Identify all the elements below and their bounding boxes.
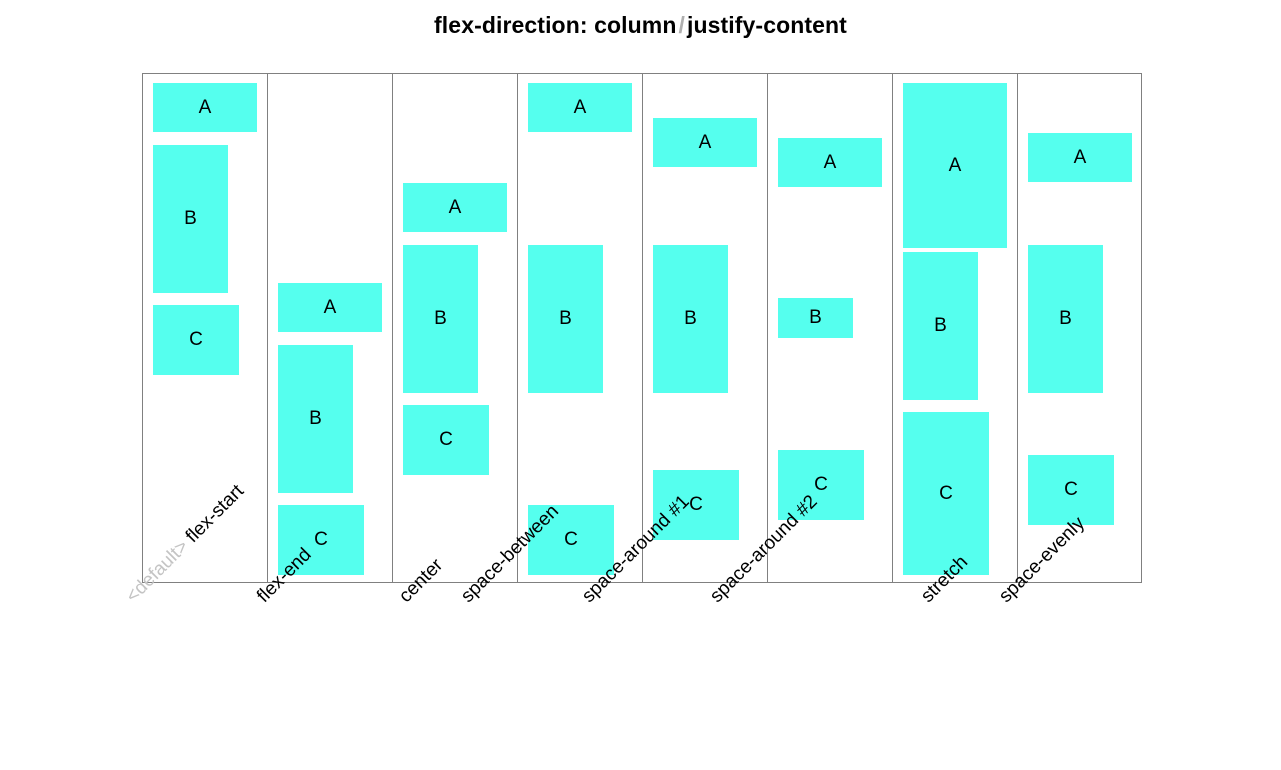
page-title-separator: / <box>677 12 688 38</box>
flex-item-b: B <box>153 145 228 293</box>
flex-item-c: C <box>903 412 989 575</box>
flex-item-a: A <box>278 283 382 332</box>
demo-column-space-evenly: ABC <box>1018 74 1143 582</box>
flex-item-c: C <box>153 305 239 375</box>
flex-item-a: A <box>153 83 257 132</box>
flex-item-b: B <box>653 245 728 393</box>
flex-item-b: B <box>1028 245 1103 393</box>
flex-container: ABC <box>278 83 393 575</box>
demo-column-flex-end: ABC <box>268 74 393 582</box>
demo-column-space-between: ABC <box>518 74 643 582</box>
flex-item-a: A <box>528 83 632 132</box>
flex-item-b: B <box>278 345 353 493</box>
flex-container: ABC <box>903 83 1018 575</box>
flex-item-a: A <box>903 83 1007 248</box>
flex-item-b: B <box>403 245 478 393</box>
demo-column-space-around-2: ABC <box>768 74 893 582</box>
flex-container: ABC <box>1028 83 1143 575</box>
flex-item-a: A <box>1028 133 1132 182</box>
flex-container: ABC <box>153 83 268 575</box>
page-title: flex-direction: column/justify-content <box>0 12 1281 39</box>
flex-demo-grid: ABCABCABCABCABCABCABCABC <box>142 73 1142 583</box>
demo-column-center: ABC <box>393 74 518 582</box>
flex-item-c: C <box>403 405 489 475</box>
page-title-part2: justify-content <box>687 12 847 38</box>
flex-item-b: B <box>903 252 978 400</box>
flex-item-a: A <box>403 183 507 232</box>
flex-container: ABC <box>528 83 643 575</box>
demo-column-flex-start: ABC <box>143 74 268 582</box>
demo-column-space-around-1: ABC <box>643 74 768 582</box>
flex-item-b: B <box>778 298 853 338</box>
flex-container: ABC <box>403 83 518 575</box>
flex-item-b: B <box>528 245 603 393</box>
flex-item-a: A <box>778 138 882 187</box>
demo-column-stretch: ABC <box>893 74 1018 582</box>
flex-item-a: A <box>653 118 757 167</box>
page-title-part1: flex-direction: column <box>434 12 676 38</box>
